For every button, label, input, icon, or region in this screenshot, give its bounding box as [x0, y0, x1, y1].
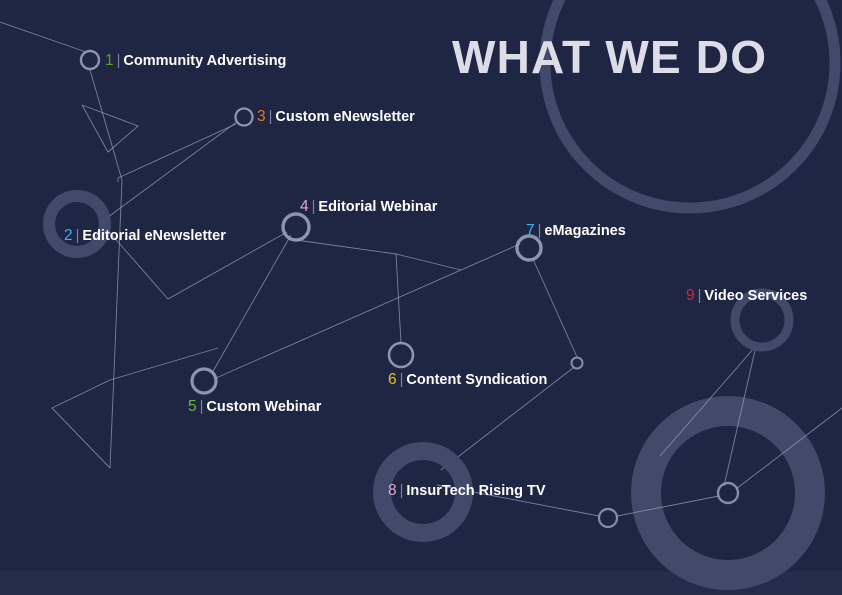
node-marker-3[interactable] [236, 109, 253, 126]
ring-node-dot-577-363 [572, 358, 583, 369]
node-markers-group [49, 51, 789, 533]
node-title-6: Content Syndication [406, 372, 547, 388]
ring-node-dot-608-518 [599, 509, 617, 527]
node-number-2: 2 [64, 227, 73, 244]
node-title-4: Editorial Webinar [318, 199, 437, 215]
node-label-1[interactable]: 1|Community Advertising [105, 52, 286, 70]
line-node7-to-dot [533, 259, 577, 357]
node-label-2[interactable]: 2|Editorial eNewsletter [64, 227, 226, 245]
node-title-8: InsurTech Rising TV [406, 483, 545, 499]
node-number-3: 3 [257, 108, 266, 125]
page-title: WHAT WE DO [452, 29, 767, 85]
node-number-5: 5 [188, 398, 197, 415]
node-label-7[interactable]: 7|eMagazines [526, 222, 626, 240]
node-separator-7: | [535, 223, 545, 239]
node-title-3: Custom eNewsletter [275, 109, 414, 125]
node-label-3[interactable]: 3|Custom eNewsletter [257, 108, 415, 126]
node-number-4: 4 [300, 198, 309, 215]
ring-bottom-right-node [718, 483, 738, 503]
line-node4-to-node5 [212, 235, 291, 373]
node-title-5: Custom Webinar [206, 399, 321, 415]
node-separator-1: | [114, 53, 124, 69]
node-label-4[interactable]: 4|Editorial Webinar [300, 198, 437, 216]
node-separator-6: | [397, 372, 407, 388]
node-number-7: 7 [526, 222, 535, 239]
connector-lines-group [0, 22, 842, 516]
node-label-6[interactable]: 6|Content Syndication [388, 371, 547, 389]
node-label-5[interactable]: 5|Custom Webinar [188, 398, 321, 416]
line-node4-frame [296, 240, 461, 270]
node-number-9: 9 [686, 287, 695, 304]
node-marker-6[interactable] [389, 343, 413, 367]
node-separator-5: | [197, 399, 207, 415]
node-title-9: Video Services [704, 288, 807, 304]
node-title-2: Editorial eNewsletter [82, 228, 225, 244]
line-path-left-upper [0, 22, 86, 52]
node-separator-9: | [695, 288, 705, 304]
ring-bottom-right-large [646, 411, 810, 575]
node-label-9[interactable]: 9|Video Services [686, 287, 807, 305]
line-node5-to-node7 [216, 244, 520, 378]
node-separator-4: | [309, 199, 319, 215]
line-node3-to-node2 [100, 121, 238, 223]
line-node3-elbow [118, 124, 236, 182]
node-marker-5[interactable] [192, 369, 216, 393]
node-marker-1[interactable] [81, 51, 99, 69]
node-separator-8: | [397, 483, 407, 499]
node-separator-2: | [73, 228, 83, 244]
node-marker-4[interactable] [283, 214, 309, 240]
node-title-7: eMagazines [544, 223, 625, 239]
line-node1-down [90, 70, 122, 468]
node-separator-3: | [266, 109, 276, 125]
what-we-do-infographic: WHAT WE DO 1|Community Advertising2|Edit… [0, 0, 842, 595]
node-number-8: 8 [388, 482, 397, 499]
node-label-8[interactable]: 8|InsurTech Rising TV [388, 482, 546, 500]
node-number-6: 6 [388, 371, 397, 388]
node-title-1: Community Advertising [123, 53, 286, 69]
line-triangle-upper [82, 105, 138, 152]
node-number-1: 1 [105, 52, 114, 69]
